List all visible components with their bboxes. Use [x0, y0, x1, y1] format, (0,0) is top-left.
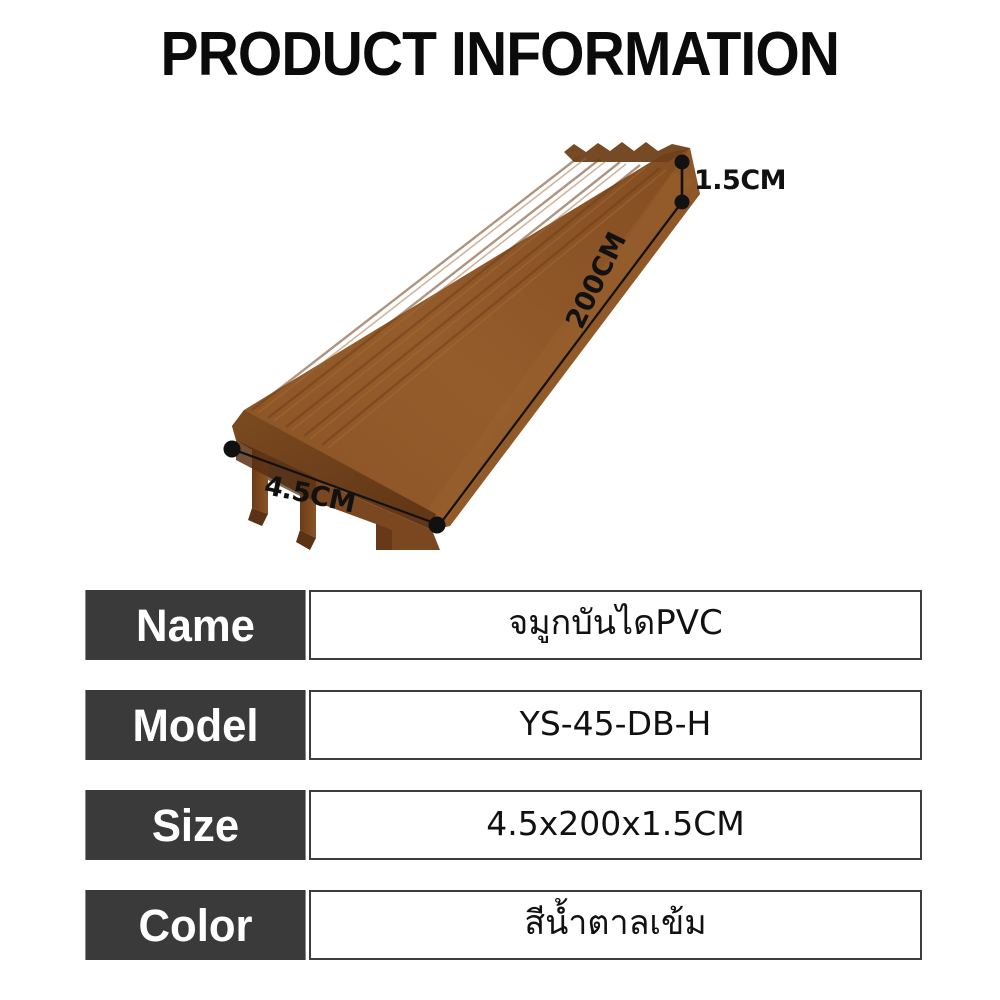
- spec-label-model: Model: [85, 690, 305, 760]
- spec-value-model: YS-45-DB-H: [309, 690, 922, 760]
- spec-table: Name จมูกบันไดPVC Model YS-45-DB-H Size …: [82, 590, 922, 960]
- page-title-container: PRODUCT INFORMATION: [0, 22, 1000, 87]
- product-information-page: PRODUCT INFORMATION: [0, 0, 1000, 1000]
- spec-value-name: จมูกบันไดPVC: [309, 590, 922, 660]
- page-title: PRODUCT INFORMATION: [161, 22, 840, 87]
- spec-value-color: สีน้ำตาลเข้ม: [309, 890, 922, 960]
- table-row: Name จมูกบันไดPVC: [82, 590, 922, 660]
- dimension-label-height: 1.5CM: [694, 165, 786, 196]
- spec-label-name: Name: [85, 590, 305, 660]
- spec-value-size: 4.5x200x1.5CM: [309, 790, 922, 860]
- spec-label-size: Size: [85, 790, 305, 860]
- table-row: Color สีน้ำตาลเข้ม: [82, 890, 922, 960]
- table-row: Model YS-45-DB-H: [82, 690, 922, 760]
- stair-nosing-svg: [0, 110, 1000, 550]
- spec-label-color: Color: [85, 890, 305, 960]
- product-illustration: 1.5CM 200CM 4.5CM: [0, 110, 1000, 550]
- table-row: Size 4.5x200x1.5CM: [82, 790, 922, 860]
